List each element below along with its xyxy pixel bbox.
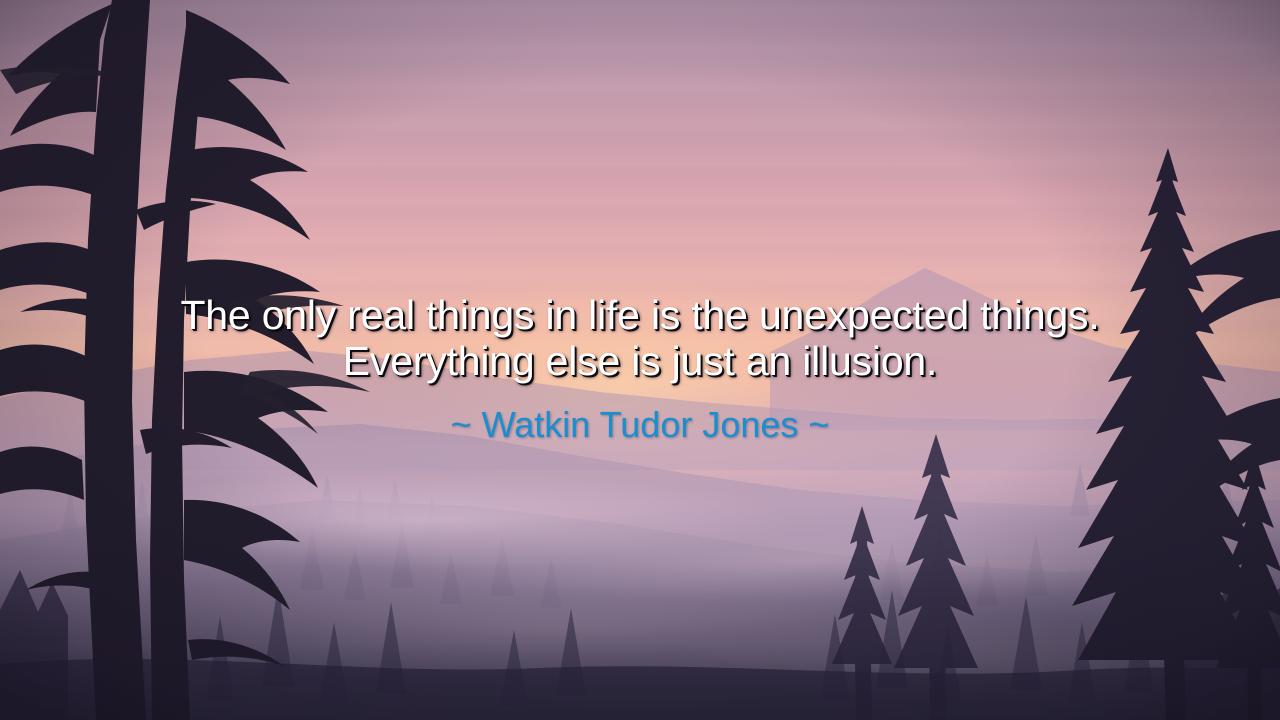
quote-line-2: Everything else is just an illusion. <box>0 338 1280 384</box>
quote-line-1: The only real things in life is the unex… <box>0 292 1280 338</box>
quote-text-block: The only real things in life is the unex… <box>0 292 1280 446</box>
quote-wallpaper: The only real things in life is the unex… <box>0 0 1280 720</box>
quote-attribution: ~ Watkin Tudor Jones ~ <box>0 404 1280 446</box>
